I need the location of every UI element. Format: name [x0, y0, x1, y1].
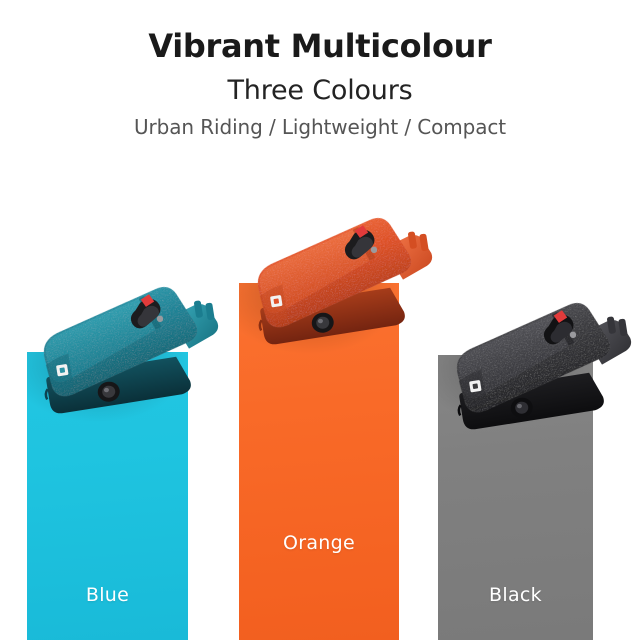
bag-silhouette-blue [32, 279, 228, 415]
bag-silhouette-black [445, 295, 640, 431]
brand-logo-mark-blue [59, 367, 65, 373]
brand-logo-mark-black [472, 383, 478, 389]
tagline: Urban Riding / Lightweight / Compact [0, 114, 640, 140]
product-colour-showcase: Vibrant Multicolour Three Colours Urban … [0, 0, 640, 640]
product-image-orange[interactable] [228, 187, 459, 368]
brand-logo-mark-orange [273, 298, 279, 304]
headline: Vibrant Multicolour [0, 28, 640, 66]
subheadline: Three Colours [0, 74, 640, 108]
product-image-blue[interactable] [14, 256, 245, 437]
product-image-black[interactable] [427, 272, 640, 453]
swatch-label-blue: Blue [27, 584, 188, 606]
swatch-label-black: Black [438, 584, 593, 606]
bag-silhouette-orange [246, 210, 442, 346]
swatch-label-orange: Orange [239, 532, 399, 554]
header-text-block: Vibrant Multicolour Three Colours Urban … [0, 28, 640, 140]
